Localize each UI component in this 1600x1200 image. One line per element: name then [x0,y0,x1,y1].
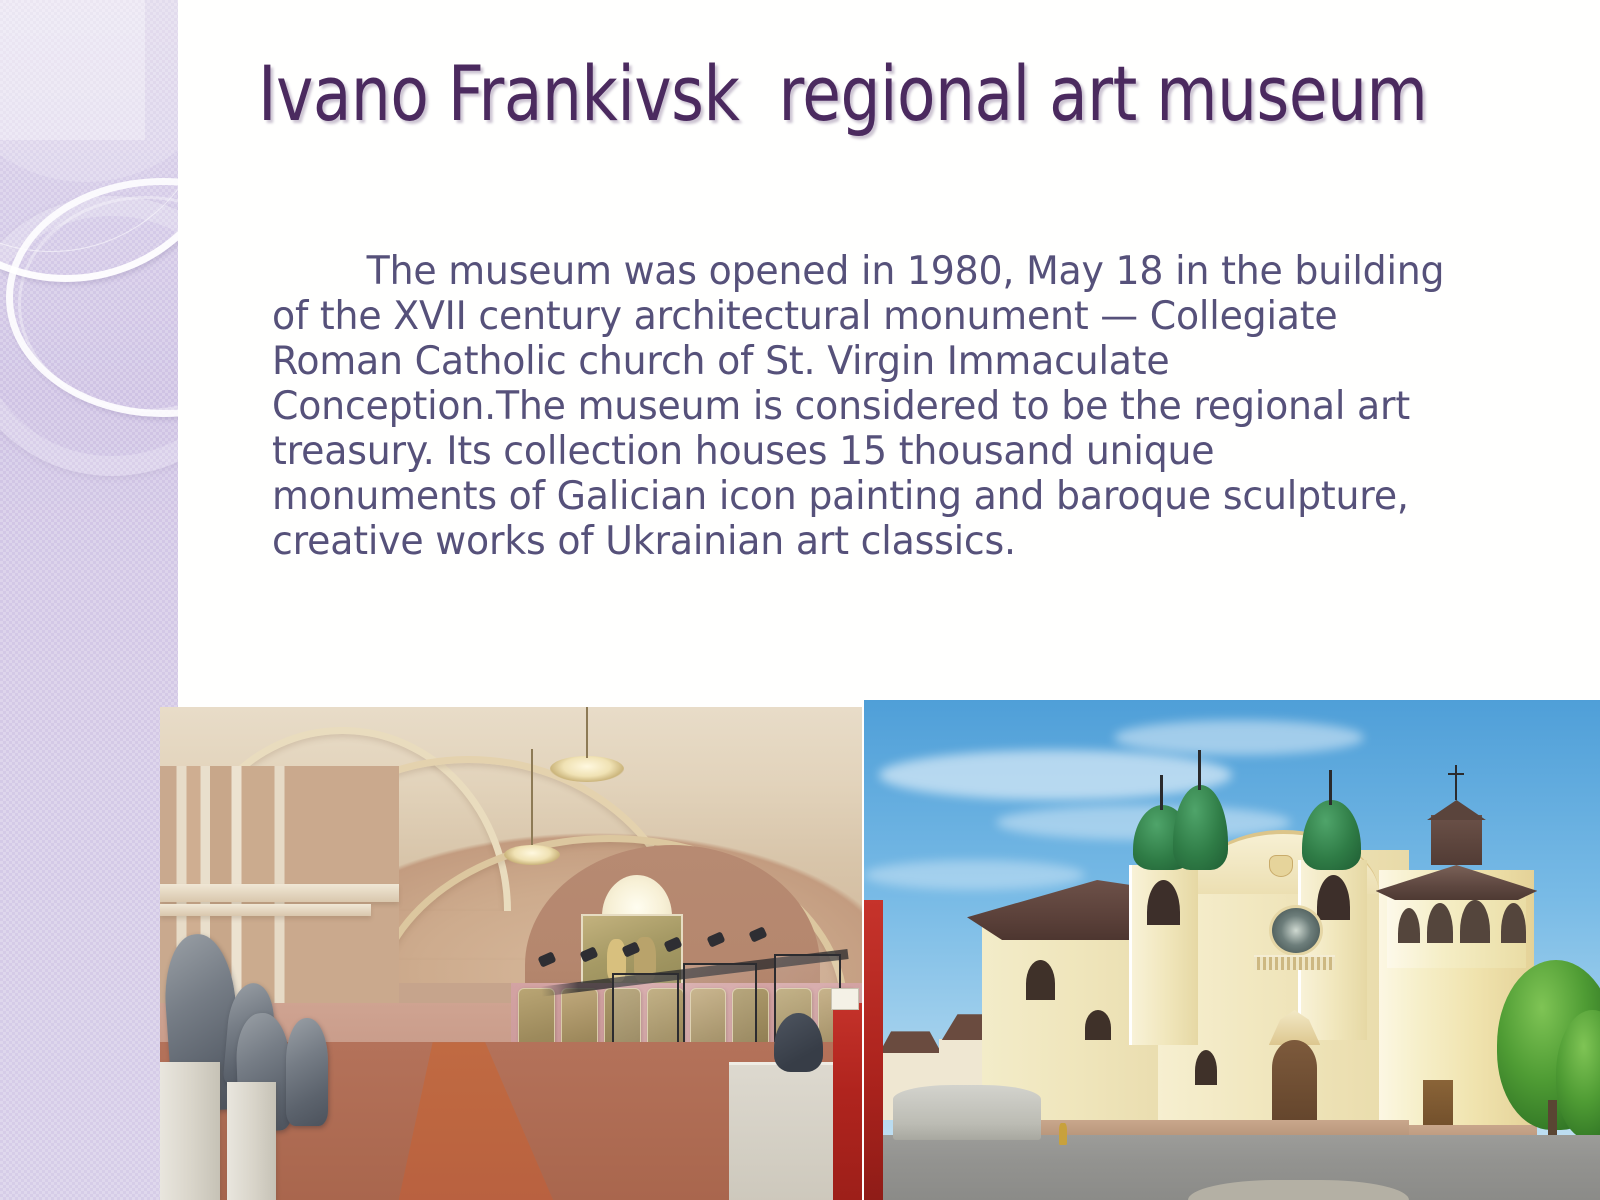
spire-finial [1198,750,1201,790]
statue-plinth [227,1082,276,1200]
cloud [1114,720,1364,755]
rose-window [1269,905,1323,956]
bell-tower-lantern [1431,815,1483,865]
cornice-2 [160,904,371,916]
red-frame-edge [864,900,883,1200]
wall-label-card [831,988,858,1010]
church-window [1085,1010,1111,1040]
baroque-statue [286,1018,328,1126]
slide-title: Ivano Frankivsk regional art museum [258,44,1454,144]
decorative-side-band [0,0,178,1200]
green-onion-dome [1302,800,1361,870]
cloud [864,860,1085,890]
chandelier-1 [550,756,624,782]
display-table [729,1062,841,1200]
green-onion-dome [1173,785,1228,870]
cloud [879,750,1232,800]
chandelier-2 [504,845,560,865]
pedestrian [1059,1123,1067,1146]
statue-plinth [160,1062,220,1200]
cross-icon [1455,765,1457,800]
pediment-shield [1269,855,1293,877]
church-exterior-photo [864,700,1600,1200]
facade-balustrade [1254,955,1335,970]
cornice-1 [160,884,399,902]
spire-finial [1160,775,1163,810]
utility-structure [893,1085,1040,1140]
slide-body-text: The museum was opened in 1980, May 18 in… [272,249,1446,564]
slide: Ivano Frankivsk regional art museum The … [0,0,1600,1200]
spire-finial [1329,770,1332,805]
red-painted-frame [833,1003,862,1200]
museum-interior-photo [160,707,862,1200]
